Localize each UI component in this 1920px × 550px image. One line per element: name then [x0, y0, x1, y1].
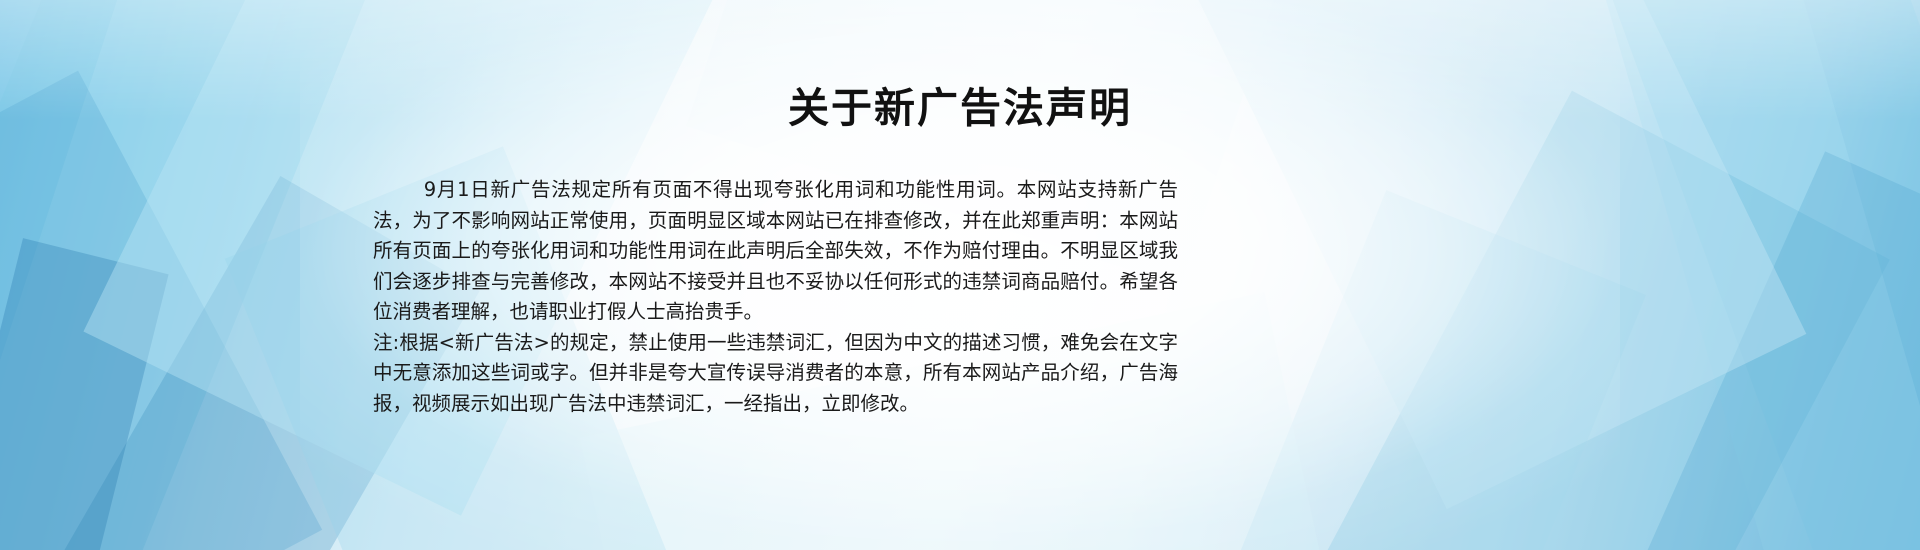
advertising-law-statement-banner: 关于新广告法声明 9月1日新广告法规定所有页面不得出现夸张化用词和功能性用词。本… — [0, 0, 1920, 550]
page-title: 关于新广告法声明 — [0, 84, 1920, 133]
statement-paragraph-2: 注:根据<新广告法>的规定，禁止使用一些违禁词汇，但因为中文的描述习惯，难免会在… — [373, 328, 1178, 420]
statement-body: 9月1日新广告法规定所有页面不得出现夸张化用词和功能性用词。本网站支持新广告法，… — [373, 175, 1178, 419]
statement-content: 关于新广告法声明 9月1日新广告法规定所有页面不得出现夸张化用词和功能性用词。本… — [0, 0, 1920, 550]
statement-paragraph-1: 9月1日新广告法规定所有页面不得出现夸张化用词和功能性用词。本网站支持新广告法，… — [373, 175, 1178, 328]
